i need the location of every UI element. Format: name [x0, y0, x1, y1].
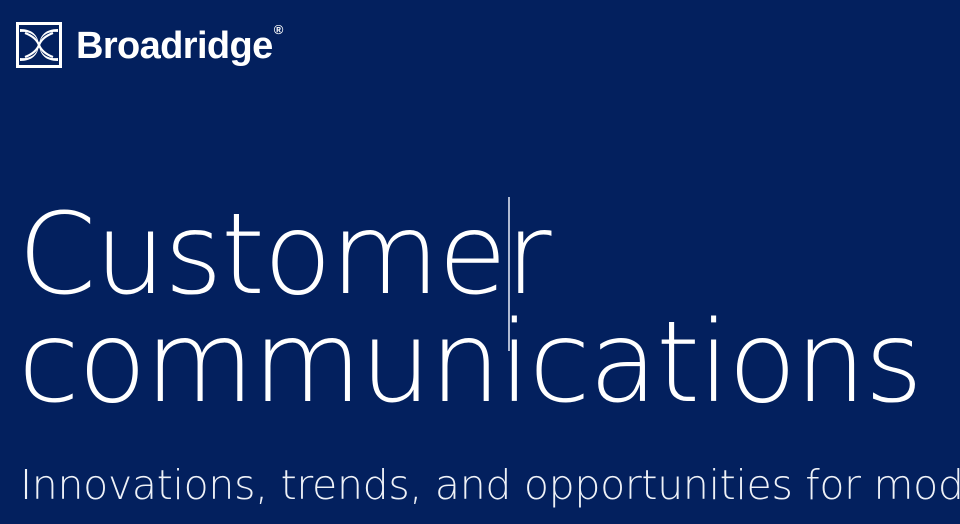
trademark-symbol: ®	[274, 22, 283, 37]
broadridge-butterfly-icon	[16, 22, 62, 68]
text-caret	[508, 197, 510, 351]
title-slide: Broadridge® Customer communications Inno…	[0, 0, 960, 524]
brand-lockup: Broadridge®	[16, 22, 282, 68]
page-title-line-1: Customer	[18, 198, 948, 312]
page-subtitle: Innovations, trends, and opportunities f…	[20, 460, 960, 510]
title-block: Customer communications	[18, 198, 948, 420]
brand-name-text: Broadridge	[76, 25, 273, 67]
brand-name: Broadridge®	[76, 23, 282, 69]
page-title-line-2: communications	[18, 306, 948, 420]
